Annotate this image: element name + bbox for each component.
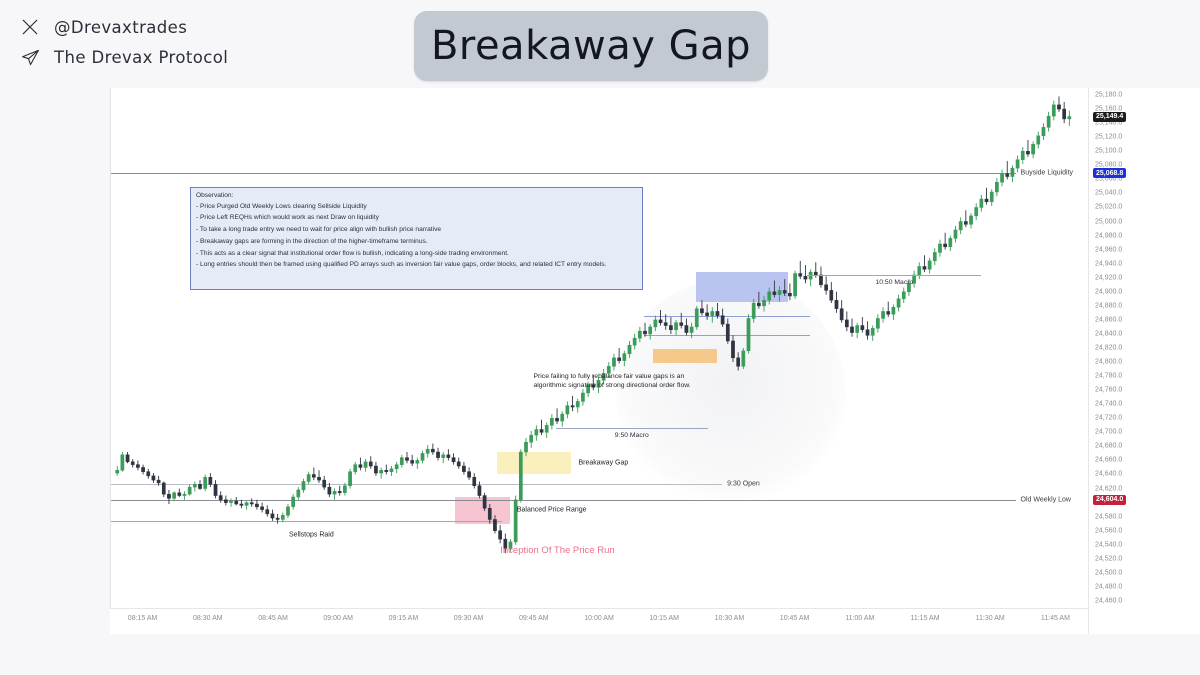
- price-tick: 24,880.0: [1095, 302, 1122, 309]
- breakaway-gap-label: Breakaway Gap: [578, 460, 628, 467]
- candle-bear: [224, 500, 227, 503]
- candle-bull: [576, 401, 579, 407]
- price-tick: 25,120.0: [1095, 134, 1122, 141]
- candle-bull: [1047, 116, 1050, 127]
- candle-bear: [323, 480, 326, 487]
- macro-950-line: [556, 428, 708, 429]
- observation-line: - This acts as a clear signal that insti…: [196, 250, 637, 258]
- candle-bear: [405, 458, 408, 461]
- candle-bear: [1026, 151, 1029, 154]
- candle-bull: [933, 252, 936, 260]
- candle-bull: [902, 292, 905, 299]
- screenshot-root: @Drevaxtrades The Drevax Protocol Breaka…: [0, 0, 1200, 675]
- price-tick: 24,940.0: [1095, 260, 1122, 267]
- candle-bear: [757, 303, 760, 306]
- candle-bull: [343, 486, 346, 493]
- candle-bear: [540, 430, 543, 433]
- price-tick: 24,660.0: [1095, 457, 1122, 464]
- candle-bear: [235, 501, 238, 504]
- candle-bear: [840, 309, 843, 320]
- candle-bull: [442, 455, 445, 458]
- candle-bear: [157, 480, 160, 483]
- price-tick: 24,760.0: [1095, 387, 1122, 394]
- time-tick: 09:15 AM: [389, 615, 419, 622]
- candle-bear: [731, 341, 734, 358]
- current-price-tag: 25,149.4: [1093, 112, 1126, 122]
- candle-bear: [700, 309, 703, 313]
- price-tick: 24,920.0: [1095, 274, 1122, 281]
- price-tick: 25,180.0: [1095, 92, 1122, 99]
- candle-bear: [478, 486, 481, 496]
- title-banner: Breakaway Gap: [414, 11, 768, 81]
- time-tick: 10:30 AM: [715, 615, 745, 622]
- macro-950-label: 9:50 Macro: [615, 432, 649, 439]
- buyside-liquidity-label: Buyside Liquidity: [1021, 170, 1074, 177]
- price-tick: 24,900.0: [1095, 288, 1122, 295]
- candle-bear: [473, 477, 476, 485]
- candle-bull: [245, 503, 248, 506]
- candle-bear: [845, 320, 848, 327]
- price-tick: 24,780.0: [1095, 373, 1122, 380]
- open-930-label: 9:30 Open: [727, 481, 760, 488]
- candle-bear: [887, 311, 890, 314]
- candle-bull: [1011, 168, 1014, 176]
- candle-bull: [612, 358, 615, 366]
- candle-bear: [209, 477, 212, 484]
- candle-bull: [959, 222, 962, 230]
- candle-bull: [954, 230, 957, 238]
- candle-bull: [421, 453, 424, 460]
- price-tick: 24,560.0: [1095, 527, 1122, 534]
- candle-bull: [881, 311, 884, 318]
- candle-bear: [669, 326, 672, 330]
- telegram-channel-label: The Drevax Protocol: [54, 48, 228, 67]
- inception-label: Inception Of The Price Run: [500, 545, 614, 556]
- price-tick: 24,820.0: [1095, 345, 1122, 352]
- candle-bull: [768, 292, 771, 300]
- candle-bull: [778, 290, 781, 294]
- candle-bear: [457, 462, 460, 466]
- candlestick-plot: Buyside LiquidityOld Weekly LowSellstops…: [111, 88, 1088, 608]
- candlestick-series: [111, 88, 1088, 608]
- candle-bear: [825, 285, 828, 291]
- candle-bear: [141, 467, 144, 471]
- candle-bull: [928, 261, 931, 269]
- candle-bull: [1016, 160, 1019, 168]
- candle-bear: [317, 477, 320, 480]
- candle-bull: [566, 406, 569, 414]
- candle-bull: [980, 199, 983, 207]
- candle-bull: [545, 425, 548, 432]
- candle-bear: [483, 496, 486, 509]
- candle-bear: [178, 493, 181, 496]
- candle-bull: [990, 192, 993, 202]
- macro-1050-label: 10:50 Macro: [875, 279, 913, 286]
- candle-bull: [892, 307, 895, 314]
- candle-bull: [173, 493, 176, 499]
- candle-bull: [623, 354, 626, 361]
- candle-bear: [411, 460, 414, 463]
- price-tick: 24,460.0: [1095, 597, 1122, 604]
- candle-bear: [431, 449, 434, 452]
- candle-bull: [535, 430, 538, 436]
- candle-bull: [949, 238, 952, 246]
- candle-bull: [292, 497, 295, 507]
- candle-bull: [400, 458, 403, 465]
- candle-bear: [328, 487, 331, 494]
- candle-bull: [918, 266, 921, 274]
- candle-bull: [524, 442, 527, 452]
- candle-bull: [1068, 117, 1071, 119]
- price-tick: 24,480.0: [1095, 583, 1122, 590]
- candle-bear: [555, 418, 558, 421]
- candle-bear: [338, 491, 341, 492]
- candle-bull: [281, 515, 284, 519]
- candle-bull: [354, 465, 357, 472]
- brand-row-x: @Drevaxtrades: [18, 12, 348, 42]
- candle-bull: [747, 318, 750, 350]
- candle-bull: [550, 418, 553, 425]
- observation-box: Observation: - Price Purged Old Weekly L…: [190, 187, 643, 290]
- candle-bull: [1037, 136, 1040, 144]
- candle-bear: [716, 311, 719, 315]
- price-tick: 25,040.0: [1095, 190, 1122, 197]
- candle-bull: [633, 338, 636, 345]
- candle-bull: [390, 469, 393, 472]
- candle-bear: [659, 320, 662, 323]
- candle-bear: [374, 466, 377, 473]
- time-tick: 08:45 AM: [258, 615, 288, 622]
- candle-bear: [835, 300, 838, 308]
- candle-bear: [467, 472, 470, 478]
- time-tick: 10:00 AM: [584, 615, 614, 622]
- price-tick: 25,100.0: [1095, 148, 1122, 155]
- candle-bear: [447, 455, 450, 458]
- candle-bear: [255, 504, 258, 507]
- candle-bull: [654, 320, 657, 327]
- candle-bear: [488, 508, 491, 519]
- candle-bull: [674, 323, 677, 330]
- candle-bear: [266, 510, 269, 514]
- brand-header: @Drevaxtrades The Drevax Protocol: [18, 12, 348, 72]
- price-tick: 24,580.0: [1095, 513, 1122, 520]
- candle-bull: [711, 311, 714, 315]
- candle-bear: [866, 330, 869, 336]
- candle-bear: [850, 327, 853, 333]
- price-tick: 24,700.0: [1095, 429, 1122, 436]
- candle-bear: [260, 507, 263, 510]
- candle-bear: [721, 316, 724, 324]
- time-tick: 08:30 AM: [193, 615, 223, 622]
- candle-bull: [876, 318, 879, 328]
- observation-line: - Long entries should then be framed usi…: [196, 261, 637, 269]
- candle-bear: [1063, 109, 1066, 119]
- candle-bull: [762, 300, 765, 306]
- candle-bear: [788, 293, 791, 296]
- price-tick: 24,980.0: [1095, 232, 1122, 239]
- time-tick: 11:30 AM: [976, 615, 1005, 622]
- time-tick: 09:30 AM: [454, 615, 484, 622]
- candle-bear: [804, 276, 807, 279]
- candle-bull: [969, 216, 972, 224]
- price-tick: 24,800.0: [1095, 359, 1122, 366]
- candle-bull: [307, 474, 310, 481]
- candle-bear: [369, 462, 372, 466]
- x-logo-icon: [18, 15, 42, 39]
- candle-bear: [680, 323, 683, 326]
- candle-bear: [136, 465, 139, 468]
- candle-bull: [380, 470, 383, 473]
- time-tick: 09:00 AM: [323, 615, 353, 622]
- candle-bear: [147, 472, 150, 476]
- candle-bull: [793, 274, 796, 296]
- time-tick: 08:15 AM: [128, 615, 158, 622]
- candle-bull: [121, 455, 124, 470]
- candle-bear: [385, 470, 388, 471]
- price-tick: 24,740.0: [1095, 401, 1122, 408]
- candle-bear: [214, 484, 217, 495]
- candle-bull: [1052, 105, 1055, 116]
- time-tick: 11:00 AM: [845, 615, 874, 622]
- candle-bear: [499, 531, 502, 539]
- candle-bear: [783, 290, 786, 293]
- candle-bear: [799, 274, 802, 277]
- candle-bull: [638, 331, 641, 338]
- brand-row-telegram: The Drevax Protocol: [18, 42, 348, 72]
- candle-bear: [436, 452, 439, 458]
- candle-bull: [752, 303, 755, 318]
- candle-bear: [706, 313, 709, 316]
- candle-bear: [1006, 174, 1009, 177]
- observation-line: - Breakaway gaps are forming in the dire…: [196, 238, 637, 246]
- candle-bull: [426, 449, 429, 453]
- candle-bear: [152, 476, 155, 480]
- candle-bull: [1021, 151, 1024, 159]
- candle-bear: [643, 331, 646, 334]
- old-weekly-low-label: Old Weekly Low: [1021, 496, 1071, 503]
- price-tick: 24,720.0: [1095, 415, 1122, 422]
- candle-bull: [695, 309, 698, 327]
- candle-bull: [1000, 174, 1003, 182]
- price-tick: 24,680.0: [1095, 443, 1122, 450]
- candle-bear: [737, 358, 740, 366]
- candle-bear: [685, 326, 688, 333]
- time-tick: 10:45 AM: [780, 615, 810, 622]
- candle-bull: [938, 244, 941, 252]
- candle-bull: [1032, 144, 1035, 154]
- fvg-note: Price failing to fully rebalance fair va…: [533, 373, 690, 391]
- observation-line: - Price Left REQHs which would work as n…: [196, 214, 637, 222]
- candle-bear: [276, 518, 279, 519]
- candle-bear: [493, 519, 496, 530]
- candle-bull: [395, 465, 398, 469]
- candle-bear: [819, 275, 822, 285]
- candle-bull: [975, 207, 978, 215]
- price-tick: 24,860.0: [1095, 316, 1122, 323]
- candle-bull: [416, 460, 419, 463]
- price-tick: 25,020.0: [1095, 204, 1122, 211]
- candle-bear: [861, 326, 864, 330]
- observation-line: - Price Purged Old Weekly Lows clearing …: [196, 203, 637, 211]
- candle-bear: [462, 466, 465, 472]
- candle-bear: [985, 199, 988, 202]
- candle-bear: [198, 484, 201, 488]
- price-tick: 24,540.0: [1095, 541, 1122, 548]
- candle-bull: [1042, 127, 1045, 135]
- candle-bull: [995, 182, 998, 192]
- candle-bull: [193, 484, 196, 487]
- observation-heading: Observation:: [196, 192, 637, 199]
- page-title: Breakaway Gap: [431, 23, 751, 69]
- chart-canvas[interactable]: Buyside LiquidityOld Weekly LowSellstops…: [110, 88, 1088, 608]
- candle-bull: [856, 326, 859, 333]
- candle-bull: [116, 470, 119, 473]
- price-tick: 25,000.0: [1095, 218, 1122, 225]
- time-tick: 11:45 AM: [1041, 615, 1070, 622]
- candle-bull: [183, 494, 186, 495]
- candle-bull: [204, 477, 207, 488]
- candle-bull: [871, 328, 874, 335]
- candle-bear: [126, 455, 129, 462]
- price-axis[interactable]: 25,180.025,160.025,140.025,120.025,100.0…: [1088, 88, 1200, 634]
- time-tick: 09:45 AM: [519, 615, 549, 622]
- candle-bull: [581, 393, 584, 401]
- buyside-liquidity-price-tag: 25,068.8: [1093, 168, 1126, 178]
- candle-bull: [649, 327, 652, 334]
- price-tick: 24,640.0: [1095, 471, 1122, 478]
- candle-bear: [923, 266, 926, 269]
- candle-bear: [271, 514, 274, 518]
- candle-bear: [1057, 105, 1060, 109]
- candle-bear: [359, 465, 362, 468]
- old-weekly-low-price-tag: 24,604.0: [1093, 495, 1126, 505]
- candle-bull: [286, 507, 289, 515]
- time-tick: 10:15 AM: [649, 615, 679, 622]
- candle-bear: [726, 324, 729, 341]
- candle-bull: [229, 501, 232, 502]
- candle-bull: [297, 490, 300, 497]
- candle-bear: [167, 494, 170, 498]
- candle-bear: [240, 504, 243, 505]
- candle-bear: [162, 483, 165, 494]
- candle-bear: [830, 290, 833, 300]
- price-tick: 24,960.0: [1095, 246, 1122, 253]
- time-tick: 11:15 AM: [910, 615, 939, 622]
- observation-line: - To take a long trade entry we need to …: [196, 226, 637, 234]
- candle-bear: [219, 496, 222, 500]
- sellstops-raid-label: Sellstops Raid: [289, 531, 334, 538]
- candle-bear: [964, 222, 967, 225]
- candle-bear: [131, 462, 134, 465]
- time-axis[interactable]: 08:15 AM08:30 AM08:45 AM09:00 AM09:15 AM…: [110, 608, 1088, 634]
- price-tick: 24,620.0: [1095, 485, 1122, 492]
- candle-bull: [897, 299, 900, 307]
- candle-bull: [690, 327, 693, 333]
- candle-bull: [364, 462, 367, 468]
- x-handle-label: @Drevaxtrades: [54, 18, 187, 37]
- candle-bear: [944, 244, 947, 247]
- candle-bull: [742, 351, 745, 366]
- candle-bear: [618, 358, 621, 361]
- candle-bull: [561, 414, 564, 421]
- candle-bull: [188, 487, 191, 494]
- observation-lines: - Price Purged Old Weekly Lows clearing …: [196, 203, 637, 269]
- candle-bear: [452, 458, 455, 462]
- price-tick: 24,520.0: [1095, 555, 1122, 562]
- candle-bull: [333, 491, 336, 494]
- candle-bull: [628, 345, 631, 353]
- candle-bear: [312, 474, 315, 477]
- telegram-icon: [18, 45, 42, 69]
- candle-bull: [530, 435, 533, 442]
- candle-bear: [773, 292, 776, 295]
- candle-bear: [664, 323, 667, 326]
- price-tick: 24,500.0: [1095, 569, 1122, 576]
- macro-1050-line: [807, 275, 981, 276]
- candle-bull: [302, 482, 305, 490]
- candle-bull: [348, 472, 351, 486]
- candle-bull: [519, 452, 522, 500]
- balanced-price-range-label: Balanced Price Range: [517, 507, 587, 514]
- candle-bear: [571, 406, 574, 407]
- price-tick: 24,840.0: [1095, 330, 1122, 337]
- candle-bear: [250, 503, 253, 504]
